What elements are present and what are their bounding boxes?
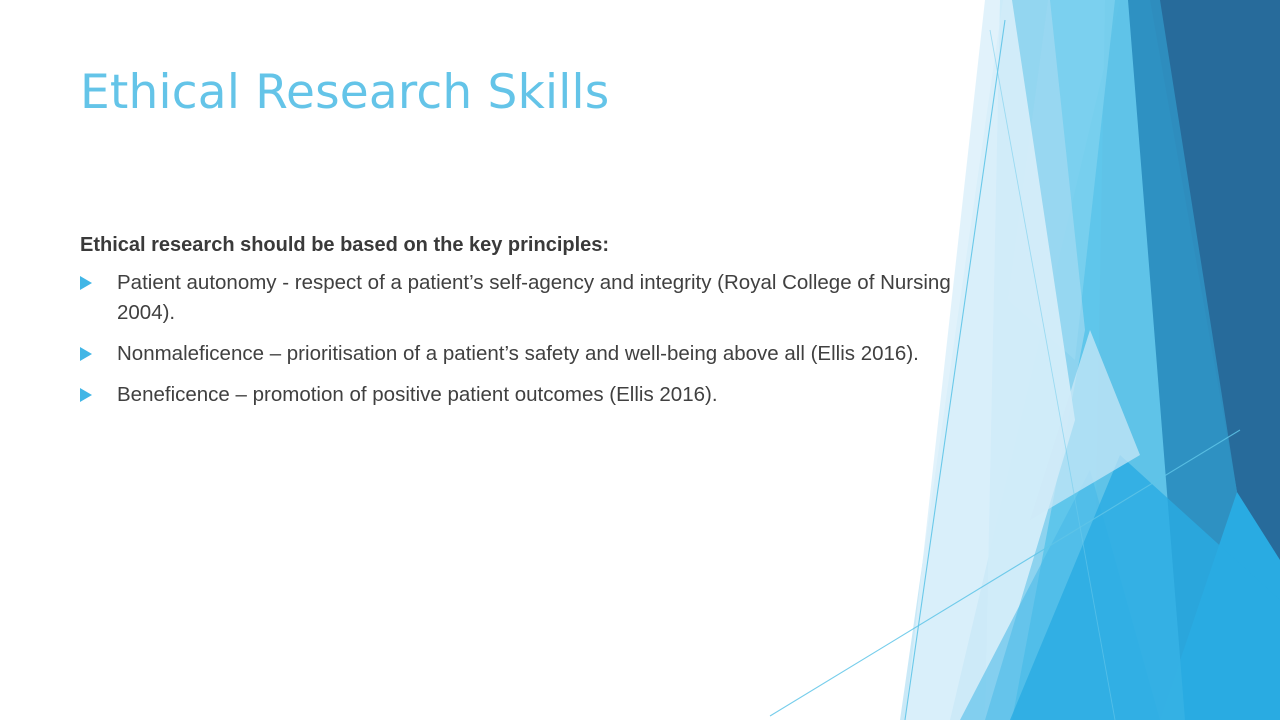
decor-shape-light-wedge bbox=[1008, 0, 1115, 360]
decor-shape-navy-band bbox=[1150, 0, 1280, 560]
list-item-text: Beneficence – promotion of positive pati… bbox=[117, 380, 960, 410]
list-item-text: Nonmaleficence – prioritisation of a pat… bbox=[117, 339, 960, 369]
list-item: Beneficence – promotion of positive pati… bbox=[80, 380, 960, 410]
decor-shape-lower-left-triangle bbox=[960, 470, 1160, 720]
slide: Ethical Research Skills Ethical research… bbox=[0, 0, 1280, 720]
decor-shape-sky-facet bbox=[985, 0, 1185, 720]
list-item-text: Patient autonomy - respect of a patient’… bbox=[117, 268, 960, 328]
decor-shape-bright-base bbox=[950, 0, 1280, 720]
title-block: Ethical Research Skills bbox=[80, 66, 940, 120]
decor-shape-medium-band bbox=[1092, 0, 1237, 720]
decor-shape-upper-pale-triangle bbox=[1030, 330, 1140, 520]
decor-shape-lower-bright-triangle bbox=[1010, 455, 1280, 720]
decor-hairline-shallow bbox=[770, 430, 1240, 716]
bullet-list: Patient autonomy - respect of a patient’… bbox=[80, 268, 960, 411]
decor-hairline-upper bbox=[990, 30, 1115, 720]
triangle-right-icon bbox=[80, 276, 92, 290]
triangle-right-icon bbox=[80, 347, 92, 361]
list-item: Nonmaleficence – prioritisation of a pat… bbox=[80, 339, 960, 369]
list-item: Patient autonomy - respect of a patient’… bbox=[80, 268, 960, 328]
triangle-right-icon bbox=[80, 388, 92, 402]
body-content: Ethical research should be based on the … bbox=[80, 232, 960, 411]
page-title: Ethical Research Skills bbox=[80, 66, 940, 120]
body-heading: Ethical research should be based on the … bbox=[80, 232, 960, 258]
